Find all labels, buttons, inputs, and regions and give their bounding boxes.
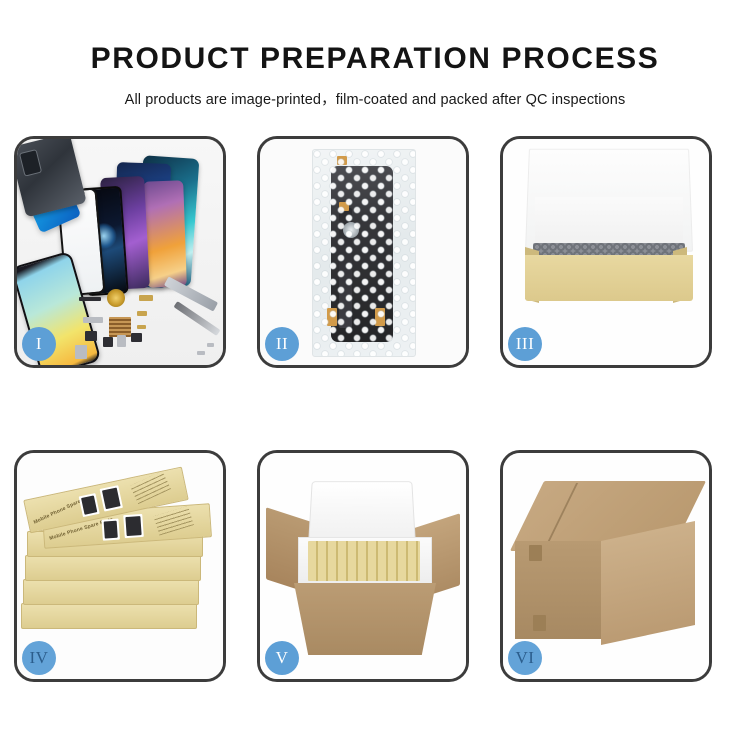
box-window-rear-1 — [79, 493, 100, 517]
header: PRODUCT PREPARATION PROCESS All products… — [0, 0, 750, 109]
foam-box-lid — [308, 481, 416, 543]
box-text-lines-rear — [130, 471, 171, 504]
stacked-box-bottom-1 — [21, 603, 197, 629]
process-step-card-1[interactable]: I — [14, 136, 226, 368]
carton-right-panel — [601, 521, 695, 645]
tweezers-tool — [164, 276, 218, 311]
page-subtitle: All products are image-printed，film-coat… — [0, 88, 750, 109]
inner-yellow-boxes — [308, 541, 420, 581]
phone-orange — [143, 180, 187, 287]
stacked-box-bottom-2 — [23, 579, 199, 605]
process-step-card-5[interactable]: V — [257, 450, 469, 682]
box-window-front-2 — [123, 514, 144, 538]
box-front-panel — [525, 255, 693, 301]
part-camera — [131, 333, 142, 342]
process-step-card-3[interactable]: III — [500, 136, 712, 368]
bubble-texture — [313, 150, 415, 356]
part-screw-2 — [207, 343, 214, 347]
box-text-lines-front — [154, 506, 194, 536]
part-gold-pin — [137, 325, 146, 329]
box-window-rear-2 — [100, 485, 123, 511]
part-coil — [107, 289, 125, 307]
step-badge-5: V — [265, 641, 299, 675]
product-preparation-infographic: PRODUCT PREPARATION PROCESS All products… — [0, 0, 750, 750]
step-badge-3: III — [508, 327, 542, 361]
part-module-2 — [103, 337, 113, 347]
process-step-card-6[interactable]: VI — [500, 450, 712, 682]
carton-front-panel — [515, 541, 601, 639]
process-step-card-4[interactable]: Mobile Phone Spare Parts Mobile Phone Sp… — [14, 450, 226, 682]
part-gold-clip — [139, 295, 153, 301]
part-chip-grid — [109, 317, 131, 337]
page-title: PRODUCT PREPARATION PROCESS — [0, 42, 750, 76]
part-gold-clip-2 — [137, 311, 147, 316]
part-flex-strip — [83, 317, 103, 323]
part-sim-tray — [75, 345, 87, 359]
bubble-wrap-bag — [312, 149, 416, 357]
stacked-box-bottom-3 — [25, 555, 201, 581]
step-badge-2: II — [265, 327, 299, 361]
carton-tape-upper — [529, 545, 542, 561]
part-bar-dark — [79, 297, 101, 301]
box-window-front-1 — [102, 519, 120, 541]
process-step-grid: I II — [14, 136, 736, 682]
part-bracket — [117, 335, 126, 347]
carton-front-panel — [294, 583, 436, 655]
step-badge-4: IV — [22, 641, 56, 675]
part-module — [85, 331, 97, 341]
process-step-card-2[interactable]: II — [257, 136, 469, 368]
carton-tape-lower — [533, 615, 546, 631]
step-badge-6: VI — [508, 641, 542, 675]
part-screw — [197, 351, 205, 355]
step-badge-1: I — [22, 327, 56, 361]
